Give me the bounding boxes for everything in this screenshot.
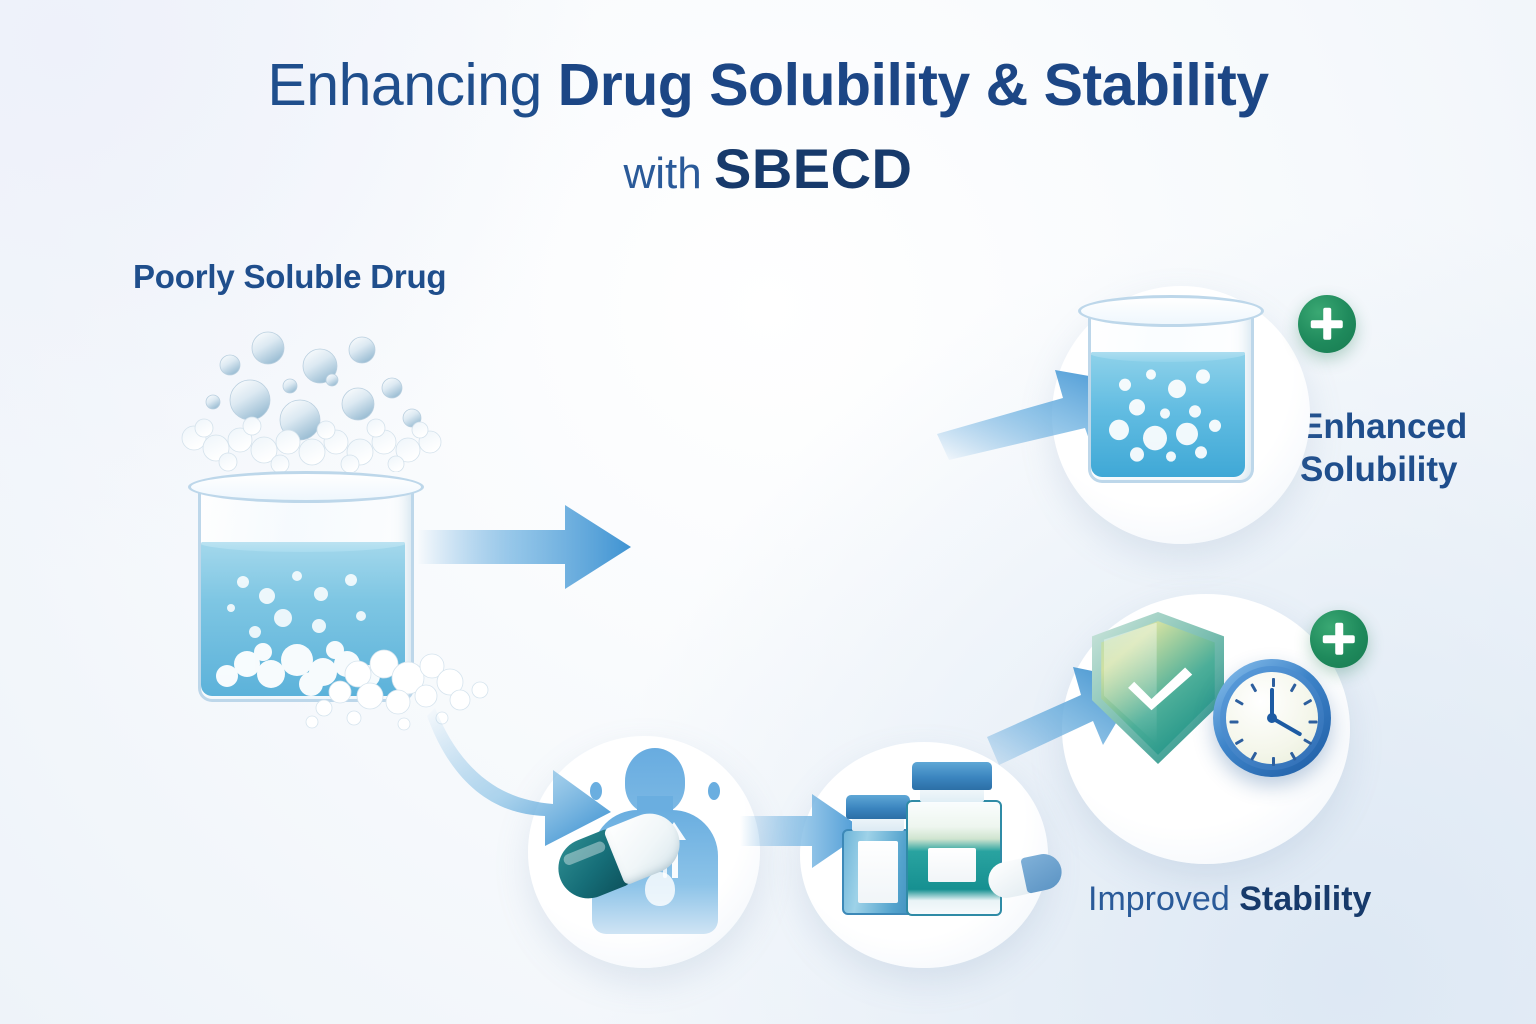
label-poorly-soluble-drug: Poorly Soluble Drug: [133, 258, 446, 296]
body-ear-left: [590, 782, 602, 800]
arrow-right-icon: [415, 497, 635, 597]
clock-tick: [1303, 699, 1312, 706]
beaker-dissolved: [1088, 308, 1248, 480]
title-line2-light: with: [623, 149, 713, 198]
vial-cap: [846, 795, 910, 819]
body-ear-right: [708, 782, 720, 800]
clock-face: [1226, 672, 1318, 764]
vial-neck: [852, 817, 904, 831]
checkmark-icon: [1124, 662, 1195, 714]
capsule-colored-half: [1020, 851, 1065, 894]
label-enhanced-line1: Enhanced: [1300, 406, 1467, 449]
title-block: Enhancing Drug Solubility & Stability wi…: [0, 56, 1536, 197]
dissolved-bubbles-icon: [1091, 352, 1245, 477]
clock-tick: [1235, 699, 1244, 706]
beaker-rim: [1078, 295, 1264, 327]
beaker-rim: [188, 471, 424, 503]
title-line2-bold: SBECD: [714, 137, 913, 200]
plus-badge-solubility-icon: [1298, 295, 1356, 353]
infographic-canvas: Enhancing Drug Solubility & Stability wi…: [0, 0, 1536, 1024]
label-improved-stability: Improved Stability: [1088, 880, 1371, 919]
label-improved-light: Improved: [1088, 880, 1239, 918]
label-stability-bold: Stability: [1239, 880, 1371, 918]
medicine-vial-icon: [842, 795, 914, 911]
clock-tick: [1309, 721, 1318, 724]
beaker-liquid: [1091, 352, 1245, 477]
undissolved-particles-cluster-icon: [180, 330, 448, 472]
medicine-bottle-icon: [906, 762, 998, 912]
clock-icon: [1213, 659, 1331, 777]
shield-check-icon: [1092, 612, 1224, 764]
vial-label: [858, 841, 898, 903]
clock-tick: [1272, 757, 1275, 766]
clock-tick: [1303, 738, 1312, 745]
clock-tick: [1272, 678, 1275, 687]
bottle-cap: [912, 762, 992, 790]
bottle-neck: [920, 788, 984, 802]
clock-tick: [1235, 738, 1244, 745]
clock-tick: [1290, 683, 1297, 692]
title-line-2: with SBECD: [0, 141, 1536, 197]
label-enhanced-solubility: Enhanced Solubility: [1300, 406, 1467, 491]
title-line-1: Enhancing Drug Solubility & Stability: [0, 56, 1536, 115]
label-enhanced-line2: Solubility: [1300, 449, 1467, 492]
clock-tick: [1250, 752, 1257, 761]
clock-tick: [1230, 721, 1239, 724]
title-line1-light: Enhancing: [267, 52, 557, 118]
bottle-label: [928, 848, 976, 882]
plus-badge-stability-icon: [1310, 610, 1368, 668]
body-stomach: [645, 872, 675, 906]
title-line1-bold: Drug Solubility & Stability: [558, 52, 1269, 118]
clock-center-hub: [1267, 713, 1277, 723]
clock-tick: [1290, 752, 1297, 761]
clock-tick: [1250, 683, 1257, 692]
